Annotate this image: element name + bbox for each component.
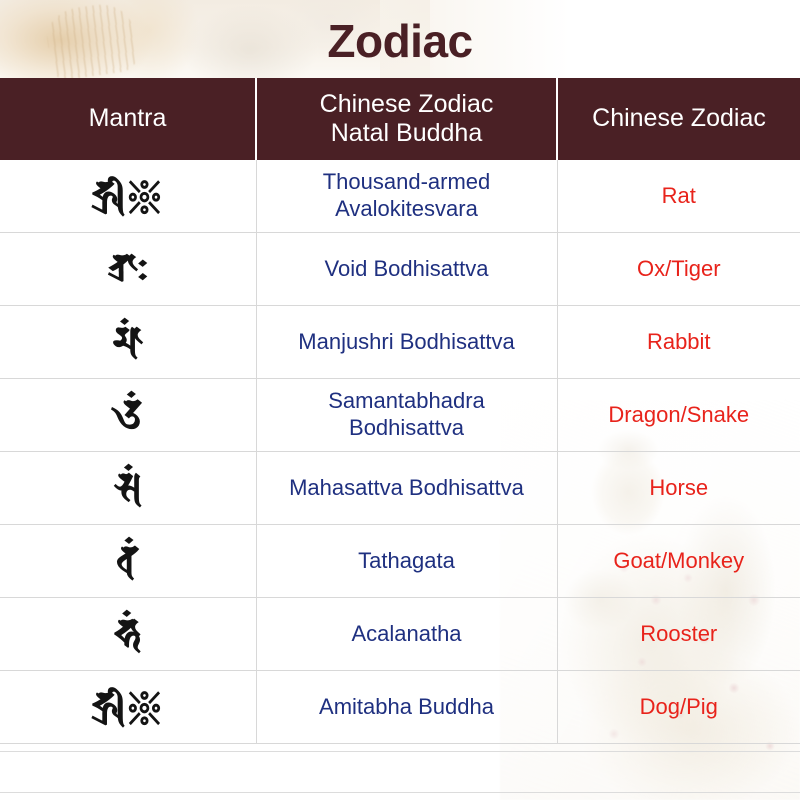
cell-mantra: 𑖮𑖿𑖨𑖱𑗕 [0,671,256,744]
column-header-mantra-label: Mantra [89,104,167,132]
cell-mantra: 𑖮𑖿𑖨𑖱𑗕 [0,160,256,233]
trailing-rule-2 [0,792,800,793]
chinese-zodiac-value: Goat/Monkey [613,548,744,573]
cell-mantra: 𑖝𑖿𑖨𑖯𑖾 [0,233,256,306]
zodiac-infographic: Zodiac Mantra Chinese Zodiac Natal Buddh… [0,0,800,800]
siddham-seed-syllable-an-icon: 𑖄𑖽 [112,394,144,436]
table-row: 𑖪𑖽TathagataGoat/Monkey [0,525,800,598]
natal-buddha-line1: Tathagata [358,548,455,573]
cell-chinese-zodiac: Goat/Monkey [557,525,800,598]
cell-natal-buddha: SamantabhadraBodhisattva [256,379,557,452]
siddham-seed-syllable-vam-icon: 𑖪𑖽 [116,540,139,582]
cell-natal-buddha: Thousand-armedAvalokitesvara [256,160,557,233]
title-bar: Zodiac [0,0,800,78]
cell-natal-buddha: Manjushri Bodhisattva [256,306,557,379]
table-header: Mantra Chinese Zodiac Natal Buddha Chine… [0,78,800,160]
chinese-zodiac-value: Dog/Pig [640,694,718,719]
column-header-chinese-zodiac: Chinese Zodiac [557,78,800,160]
trailing-rule-1 [0,751,800,752]
cell-mantra: 𑖮𑖯𑖽 [0,598,256,671]
cell-mantra: 𑖭𑖽 [0,452,256,525]
cell-chinese-zodiac: Dog/Pig [557,671,800,744]
cell-chinese-zodiac: Rat [557,160,800,233]
chinese-zodiac-value: Rooster [640,621,717,646]
natal-buddha-line1: Acalanatha [351,621,461,646]
cell-mantra: 𑖪𑖽 [0,525,256,598]
siddham-seed-syllable-man-icon: 𑖦𑖯𑖽 [112,321,143,363]
siddham-seed-syllable-sa-icon: 𑖭𑖽 [114,467,142,509]
table-row: 𑖭𑖽Mahasattva BodhisattvaHorse [0,452,800,525]
table-row: 𑖮𑖿𑖨𑖱𑗕Amitabha BuddhaDog/Pig [0,671,800,744]
natal-buddha-line2: Bodhisattva [349,415,464,440]
cell-mantra: 𑖄𑖽 [0,379,256,452]
column-header-mantra: Mantra [0,78,256,160]
cell-natal-buddha: Tathagata [256,525,557,598]
chinese-zodiac-value: Dragon/Snake [608,402,749,427]
table-body: 𑖮𑖿𑖨𑖱𑗕Thousand-armedAvalokitesvaraRat𑖝𑖿𑖨𑖯… [0,160,800,744]
table-row: 𑖦𑖯𑖽Manjushri BodhisattvaRabbit [0,306,800,379]
siddham-seed-syllable-ham-icon: 𑖮𑖯𑖽 [115,613,141,655]
cell-natal-buddha: Amitabha Buddha [256,671,557,744]
siddham-seed-syllable-trah-icon: 𑖝𑖿𑖨𑖯𑖾 [108,248,147,290]
chinese-zodiac-value: Rat [662,183,696,208]
siddham-seed-syllable-hrih-icon: 𑖮𑖿𑖨𑖱𑗕 [92,175,164,217]
table-header-row: Mantra Chinese Zodiac Natal Buddha Chine… [0,78,800,160]
natal-buddha-line1: Amitabha Buddha [319,694,494,719]
page-title: Zodiac [327,18,472,64]
cell-natal-buddha: Mahasattva Bodhisattva [256,452,557,525]
natal-buddha-line1: Samantabhadra [328,388,485,413]
natal-buddha-line1: Manjushri Bodhisattva [298,329,514,354]
cell-mantra: 𑖦𑖯𑖽 [0,306,256,379]
cell-chinese-zodiac: Dragon/Snake [557,379,800,452]
siddham-seed-syllable-hrih-icon: 𑖮𑖿𑖨𑖱𑗕 [92,686,164,728]
zodiac-table: Mantra Chinese Zodiac Natal Buddha Chine… [0,78,800,744]
natal-buddha-line2: Avalokitesvara [335,196,478,221]
table-row: 𑖮𑖿𑖨𑖱𑗕Thousand-armedAvalokitesvaraRat [0,160,800,233]
table-row: 𑖝𑖿𑖨𑖯𑖾Void BodhisattvaOx/Tiger [0,233,800,306]
chinese-zodiac-value: Ox/Tiger [637,256,721,281]
cell-natal-buddha: Acalanatha [256,598,557,671]
natal-buddha-line1: Thousand-armed [323,169,491,194]
column-header-natal-buddha-line1: Chinese Zodiac [320,90,494,118]
natal-buddha-line1: Mahasattva Bodhisattva [289,475,524,500]
cell-chinese-zodiac: Rooster [557,598,800,671]
cell-chinese-zodiac: Horse [557,452,800,525]
table-row: 𑖄𑖽SamantabhadraBodhisattvaDragon/Snake [0,379,800,452]
cell-natal-buddha: Void Bodhisattva [256,233,557,306]
column-header-natal-buddha-line2: Natal Buddha [331,119,483,147]
cell-chinese-zodiac: Ox/Tiger [557,233,800,306]
natal-buddha-line1: Void Bodhisattva [325,256,489,281]
table-row: 𑖮𑖯𑖽AcalanathaRooster [0,598,800,671]
column-header-chinese-zodiac-label: Chinese Zodiac [592,104,766,132]
chinese-zodiac-value: Horse [649,475,708,500]
column-header-natal-buddha: Chinese Zodiac Natal Buddha [256,78,557,160]
chinese-zodiac-value: Rabbit [647,329,711,354]
cell-chinese-zodiac: Rabbit [557,306,800,379]
